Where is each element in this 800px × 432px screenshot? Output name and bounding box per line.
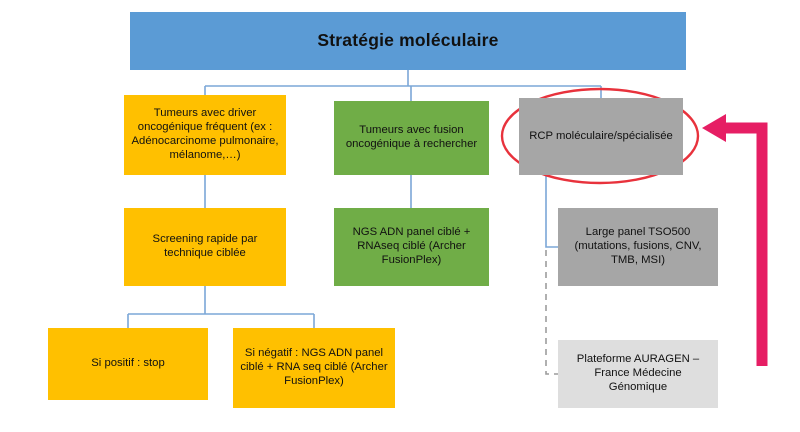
node-label: Plateforme AURAGEN – France Médecine Gén… bbox=[564, 353, 712, 394]
node-plateforme-auragen: Plateforme AURAGEN – France Médecine Gén… bbox=[558, 340, 718, 408]
node-label: NGS ADN panel ciblé + RNAseq ciblé (Arch… bbox=[340, 226, 483, 267]
node-si-positif-stop: Si positif : stop bbox=[48, 328, 208, 400]
node-label: Si négatif : NGS ADN panel ciblé + RNA s… bbox=[239, 347, 389, 388]
node-label: RCP moléculaire/spécialisée bbox=[525, 130, 677, 144]
diagram-title-banner: Stratégie moléculaire bbox=[130, 12, 686, 70]
flowchart-canvas: Stratégie moléculaire Tumeurs avec drive… bbox=[0, 0, 800, 432]
page-title: Stratégie moléculaire bbox=[136, 30, 680, 51]
node-label: Tumeurs avec fusion oncogénique à recher… bbox=[340, 124, 483, 152]
connector-dashed-to-auragen bbox=[546, 250, 558, 374]
feedback-arrow-head bbox=[702, 114, 726, 142]
node-tumeurs-driver-oncogenique: Tumeurs avec driver oncogénique fréquent… bbox=[124, 95, 286, 175]
node-large-panel-tso500: Large panel TSO500 (mutations, fusions, … bbox=[558, 208, 718, 286]
node-label: Screening rapide par technique ciblée bbox=[130, 233, 280, 261]
node-label: Tumeurs avec driver oncogénique fréquent… bbox=[130, 107, 280, 162]
node-si-negatif-ngs: Si négatif : NGS ADN panel ciblé + RNA s… bbox=[233, 328, 395, 408]
node-label: Si positif : stop bbox=[54, 357, 202, 371]
feedback-arrow-shaft bbox=[723, 128, 762, 366]
node-ngs-adn-panel-cible: NGS ADN panel ciblé + RNAseq ciblé (Arch… bbox=[334, 208, 489, 286]
node-label: Large panel TSO500 (mutations, fusions, … bbox=[564, 226, 712, 267]
connector-rcp-to-tso500 bbox=[546, 175, 558, 247]
node-rcp-moleculaire: RCP moléculaire/spécialisée bbox=[519, 98, 683, 175]
node-screening-rapide: Screening rapide par technique ciblée bbox=[124, 208, 286, 286]
node-tumeurs-fusion-oncogenique: Tumeurs avec fusion oncogénique à recher… bbox=[334, 101, 489, 175]
